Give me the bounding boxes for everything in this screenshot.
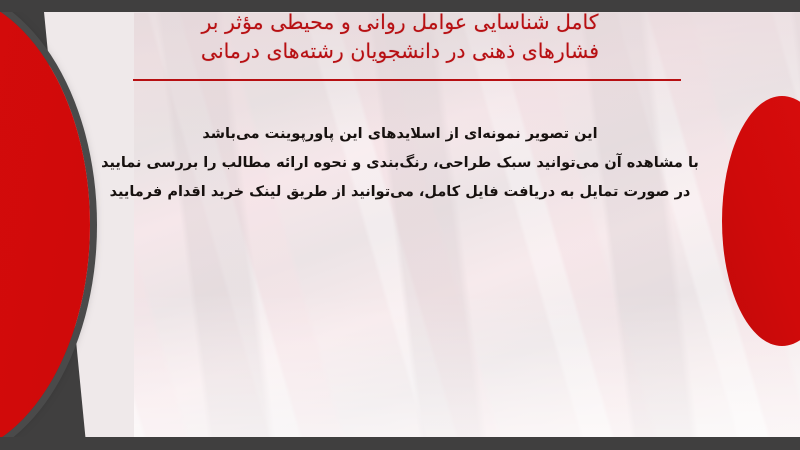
presentation-slide: کامل شناسایی عوامل روانی و محیطی مؤثر بر…: [0, 0, 800, 450]
body-line-1: این تصویر نمونه‌ای از اسلایدهای این پاور…: [60, 120, 740, 149]
slide-title: کامل شناسایی عوامل روانی و محیطی مؤثر بر…: [110, 8, 690, 66]
top-frame-bar: [0, 0, 800, 12]
title-line-1: کامل شناسایی عوامل روانی و محیطی مؤثر بر: [110, 8, 690, 37]
body-line-3: در صورت تمایل به دریافت فایل کامل، می‌تو…: [60, 178, 740, 207]
title-line-2: فشارهای ذهنی در دانشجویان رشته‌های درمان…: [110, 37, 690, 66]
slide-body: این تصویر نمونه‌ای از اسلایدهای این پاور…: [60, 120, 740, 207]
body-line-2: با مشاهده آن می‌توانید سبک طراحی، رنگ‌بن…: [60, 149, 740, 178]
bottom-frame-bar: [0, 437, 800, 450]
title-underline-rule: [133, 79, 681, 81]
